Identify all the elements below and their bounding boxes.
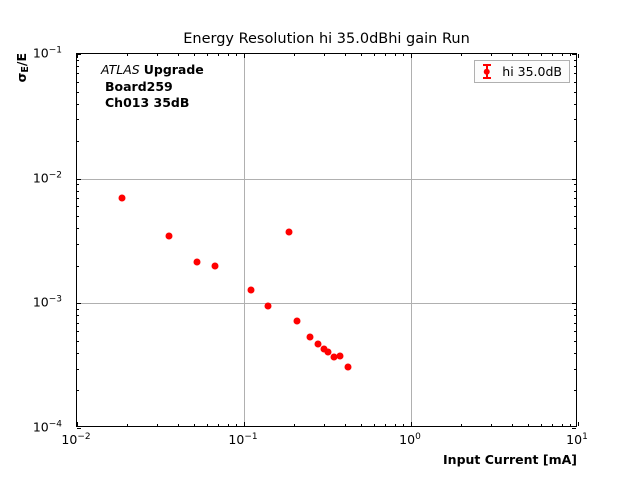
atlas-annotation: ATLAS Upgrade Board259 Ch013 35dB <box>101 62 204 112</box>
x-tick-minor <box>374 424 375 426</box>
x-tick-major-top <box>411 54 412 58</box>
x-tick-minor-top <box>194 54 195 56</box>
data-point <box>212 263 219 270</box>
y-tick-major-right <box>572 303 576 304</box>
x-tick-minor <box>461 424 462 426</box>
x-tick-major <box>411 422 412 426</box>
gridline-horizontal <box>77 303 576 304</box>
data-point <box>306 333 313 340</box>
data-point <box>285 228 292 235</box>
y-tick-label: 10−2 <box>33 170 62 185</box>
x-tick-minor-top <box>403 54 404 56</box>
x-tick-label: 100 <box>399 432 421 447</box>
y-tick-minor <box>77 228 79 229</box>
y-tick-minor <box>77 309 79 310</box>
sigma-symbol: σ <box>14 73 29 83</box>
x-tick-minor <box>541 424 542 426</box>
matplotlib-figure: Energy Resolution hi 35.0dBhi gain Run A… <box>0 0 640 480</box>
x-tick-minor-top <box>541 54 542 56</box>
x-tick-label: 10−1 <box>228 432 257 447</box>
y-tick-label: 10−4 <box>33 420 62 435</box>
y-tick-minor <box>77 141 79 142</box>
x-tick-minor <box>512 424 513 426</box>
x-tick-minor <box>395 424 396 426</box>
y-axis-label: σE/E <box>14 53 29 82</box>
y-tick-minor-right <box>574 369 576 370</box>
y-tick-minor-right <box>574 73 576 74</box>
x-tick-major <box>77 422 78 426</box>
x-tick-minor <box>236 424 237 426</box>
y-tick-major <box>77 54 81 55</box>
y-tick-minor <box>77 73 79 74</box>
y-tick-minor <box>77 119 79 120</box>
x-tick-minor <box>294 424 295 426</box>
y-tick-minor-right <box>574 66 576 67</box>
data-point <box>336 352 343 359</box>
data-point <box>248 286 255 293</box>
x-tick-minor-top <box>345 54 346 56</box>
y-tick-major <box>77 428 81 429</box>
y-tick-minor-right <box>574 266 576 267</box>
y-tick-minor <box>77 184 79 185</box>
x-tick-minor-top <box>461 54 462 56</box>
y-tick-label: 10−1 <box>33 46 62 61</box>
y-tick-minor-right <box>574 92 576 93</box>
over-e: /E <box>14 53 29 66</box>
data-point <box>264 303 271 310</box>
x-tick-minor-top <box>374 54 375 56</box>
x-tick-minor-top <box>236 54 237 56</box>
x-tick-minor-top <box>361 54 362 56</box>
y-tick-minor-right <box>574 309 576 310</box>
x-tick-minor <box>194 424 195 426</box>
y-tick-minor-right <box>574 390 576 391</box>
x-tick-minor <box>345 424 346 426</box>
x-tick-minor <box>207 424 208 426</box>
y-tick-minor-right <box>574 60 576 61</box>
x-tick-minor <box>570 424 571 426</box>
x-tick-minor <box>528 424 529 426</box>
x-tick-label: 101 <box>566 432 588 447</box>
x-tick-minor-top <box>178 54 179 56</box>
y-tick-minor-right <box>574 198 576 199</box>
legend-errorbar-marker-icon <box>480 64 493 79</box>
x-tick-minor-top <box>528 54 529 56</box>
x-tick-minor-top <box>552 54 553 56</box>
x-tick-minor <box>127 424 128 426</box>
y-tick-major <box>77 303 81 304</box>
x-tick-minor <box>324 424 325 426</box>
x-tick-minor-top <box>512 54 513 56</box>
data-point <box>118 194 125 201</box>
x-tick-major-top <box>244 54 245 58</box>
data-point <box>345 363 352 370</box>
x-tick-minor <box>361 424 362 426</box>
annotation-line-1: ATLAS Upgrade <box>101 62 204 79</box>
x-tick-minor <box>178 424 179 426</box>
x-tick-minor-top <box>294 54 295 56</box>
data-point <box>194 258 201 265</box>
gridline-vertical <box>411 54 412 426</box>
y-tick-minor <box>77 82 79 83</box>
atlas-label: ATLAS <box>101 62 140 77</box>
x-tick-minor-top <box>385 54 386 56</box>
y-tick-label: 10−3 <box>33 295 62 310</box>
y-tick-minor-right <box>574 119 576 120</box>
y-tick-major <box>77 179 81 180</box>
y-tick-minor <box>77 315 79 316</box>
x-tick-minor-top <box>324 54 325 56</box>
x-tick-minor-top <box>218 54 219 56</box>
annotation-line-3: Ch013 35dB <box>101 95 204 112</box>
sigma-subscript: E <box>20 66 31 73</box>
y-tick-minor-right <box>574 341 576 342</box>
x-tick-minor-top <box>157 54 158 56</box>
x-axis-label: Input Current [mA] <box>443 452 577 467</box>
x-tick-minor <box>157 424 158 426</box>
y-tick-minor <box>77 198 79 199</box>
y-tick-minor <box>77 92 79 93</box>
x-tick-minor-top <box>395 54 396 56</box>
x-tick-minor-top <box>491 54 492 56</box>
y-tick-minor-right <box>574 315 576 316</box>
x-tick-minor-top <box>228 54 229 56</box>
x-tick-minor <box>403 424 404 426</box>
y-tick-minor-right <box>574 104 576 105</box>
y-tick-minor-right <box>574 206 576 207</box>
y-tick-minor-right <box>574 191 576 192</box>
y-tick-minor-right <box>574 184 576 185</box>
x-tick-minor <box>385 424 386 426</box>
x-tick-minor <box>562 424 563 426</box>
y-tick-minor-right <box>574 82 576 83</box>
x-tick-minor-top <box>207 54 208 56</box>
chart-legend[interactable]: hi 35.0dB <box>474 60 570 83</box>
y-tick-minor-right <box>574 216 576 217</box>
y-tick-minor <box>77 390 79 391</box>
annotation-line-2: Board259 <box>101 79 204 96</box>
y-tick-minor <box>77 323 79 324</box>
chart-title: Energy Resolution hi 35.0dBhi gain Run <box>76 30 577 48</box>
y-tick-minor <box>77 60 79 61</box>
y-tick-minor <box>77 66 79 67</box>
y-tick-minor <box>77 331 79 332</box>
y-tick-major-right <box>572 428 576 429</box>
y-tick-minor <box>77 353 79 354</box>
data-point <box>165 232 172 239</box>
y-tick-minor <box>77 341 79 342</box>
y-tick-minor <box>77 191 79 192</box>
x-tick-minor-top <box>562 54 563 56</box>
y-tick-minor <box>77 206 79 207</box>
y-tick-minor-right <box>574 244 576 245</box>
y-tick-minor <box>77 216 79 217</box>
plot-axes: ATLAS Upgrade Board259 Ch013 35dB hi 35.… <box>76 53 577 427</box>
y-tick-minor-right <box>574 323 576 324</box>
y-tick-minor <box>77 266 79 267</box>
x-tick-major-top <box>578 54 579 58</box>
x-tick-minor <box>552 424 553 426</box>
data-point <box>293 318 300 325</box>
x-tick-minor <box>491 424 492 426</box>
y-tick-minor-right <box>574 353 576 354</box>
legend-label: hi 35.0dB <box>502 64 562 79</box>
y-tick-minor-right <box>574 228 576 229</box>
y-tick-minor <box>77 369 79 370</box>
upgrade-label: Upgrade <box>144 62 204 77</box>
y-tick-minor-right <box>574 141 576 142</box>
y-tick-major-right <box>572 54 576 55</box>
y-tick-minor <box>77 244 79 245</box>
x-tick-major <box>244 422 245 426</box>
gridline-vertical <box>244 54 245 426</box>
y-tick-minor-right <box>574 331 576 332</box>
x-tick-major <box>578 422 579 426</box>
y-tick-major-right <box>572 179 576 180</box>
x-tick-label: 10−2 <box>61 432 90 447</box>
gridline-horizontal <box>77 179 576 180</box>
x-tick-minor <box>218 424 219 426</box>
x-tick-minor <box>228 424 229 426</box>
y-tick-minor <box>77 104 79 105</box>
x-tick-minor-top <box>127 54 128 56</box>
